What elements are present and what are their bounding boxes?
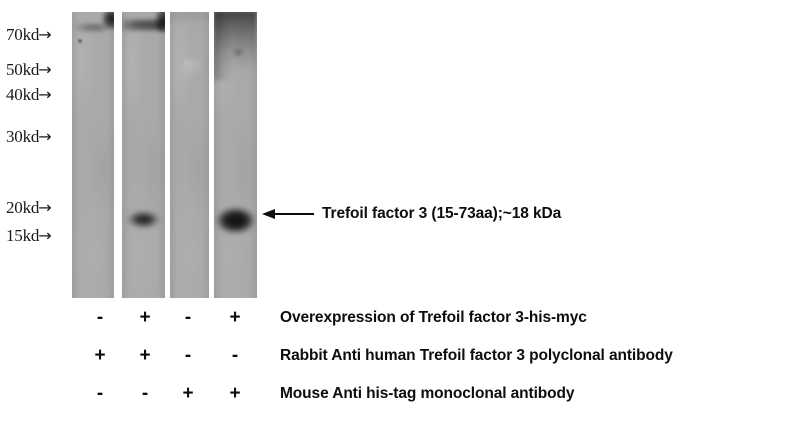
blot-lane-4 [214, 12, 257, 298]
mw-arrow-icon: → [38, 226, 51, 245]
speck-artifact [78, 39, 82, 43]
mw-marker-15kd: 15kd→ [6, 226, 51, 246]
mw-marker-label: 15kd [6, 226, 39, 245]
mw-marker-20kd: 20kd→ [6, 198, 51, 218]
lane-edge-shading [170, 12, 209, 298]
condition-sign-lane-1: - [89, 379, 111, 409]
condition-sign-lane-2: + [134, 303, 156, 333]
condition-sign-lane-4: - [224, 341, 246, 371]
scratch-artifact [180, 59, 200, 93]
condition-sign-lane-1: - [89, 303, 111, 333]
faint-spot-artifact [232, 48, 244, 57]
condition-sign-lane-3: - [177, 303, 199, 333]
condition-label: Rabbit Anti human Trefoil factor 3 polyc… [280, 341, 673, 371]
condition-row-overexpression: - + - + Overexpression of Trefoil factor… [0, 303, 800, 341]
mw-arrow-icon: → [38, 127, 51, 146]
mw-arrow-icon: → [38, 198, 51, 217]
mw-arrow-icon: → [38, 85, 51, 104]
well-smear-artifact [74, 24, 108, 31]
lane-edge-shading [214, 12, 257, 298]
condition-sign-lane-2: + [134, 341, 156, 371]
protein-band-lane-2 [125, 209, 162, 230]
band-callout-label: Trefoil factor 3 (15-73aa);~18 kDa [322, 205, 561, 223]
blot-membrane [70, 12, 258, 298]
blot-lane-1 [72, 12, 114, 298]
mw-arrow-icon: → [38, 60, 51, 79]
condition-sign-lane-3: + [177, 379, 199, 409]
mw-marker-50kd: 50kd→ [6, 60, 51, 80]
mw-marker-70kd: 70kd→ [6, 25, 51, 45]
band-callout: Trefoil factor 3 (15-73aa);~18 kDa [262, 203, 561, 225]
western-blot-figure: 70kd→ 50kd→ 40kd→ 30kd→ 20kd→ 15kd→ [0, 0, 800, 427]
condition-row-rabbit-antibody: + + - - Rabbit Anti human Trefoil factor… [0, 341, 800, 379]
well-smear-artifact [98, 12, 114, 32]
mw-marker-40kd: 40kd→ [6, 85, 51, 105]
protein-band-lane-4 [215, 206, 256, 235]
condition-label: Overexpression of Trefoil factor 3-his-m… [280, 303, 587, 333]
lane-edge-shading [72, 12, 114, 298]
well-smear-artifact [214, 12, 234, 80]
mw-marker-label: 30kd [6, 127, 39, 146]
mw-marker-30kd: 30kd→ [6, 127, 51, 147]
blot-lane-2 [122, 12, 165, 298]
well-smear-artifact [214, 12, 257, 72]
condition-label: Mouse Anti his-tag monoclonal antibody [280, 379, 574, 409]
condition-sign-lane-1: + [89, 341, 111, 371]
condition-sign-lane-4: + [224, 379, 246, 409]
condition-sign-lane-3: - [177, 341, 199, 371]
condition-sign-lane-2: - [134, 379, 156, 409]
well-smear-artifact [170, 12, 209, 24]
left-arrow-icon [262, 208, 314, 220]
well-smear-artifact [152, 12, 165, 32]
well-smear-artifact [122, 20, 165, 30]
mw-marker-label: 70kd [6, 25, 39, 44]
lane-edge-shading [122, 12, 165, 298]
condition-matrix: - + - + Overexpression of Trefoil factor… [0, 303, 800, 417]
mw-marker-label: 20kd [6, 198, 39, 217]
mw-arrow-icon: → [38, 25, 51, 44]
condition-row-mouse-antibody: - - + + Mouse Anti his-tag monoclonal an… [0, 379, 800, 417]
blot-lane-3 [170, 12, 209, 298]
mw-marker-label: 40kd [6, 85, 39, 104]
mw-marker-label: 50kd [6, 60, 39, 79]
condition-sign-lane-4: + [224, 303, 246, 333]
